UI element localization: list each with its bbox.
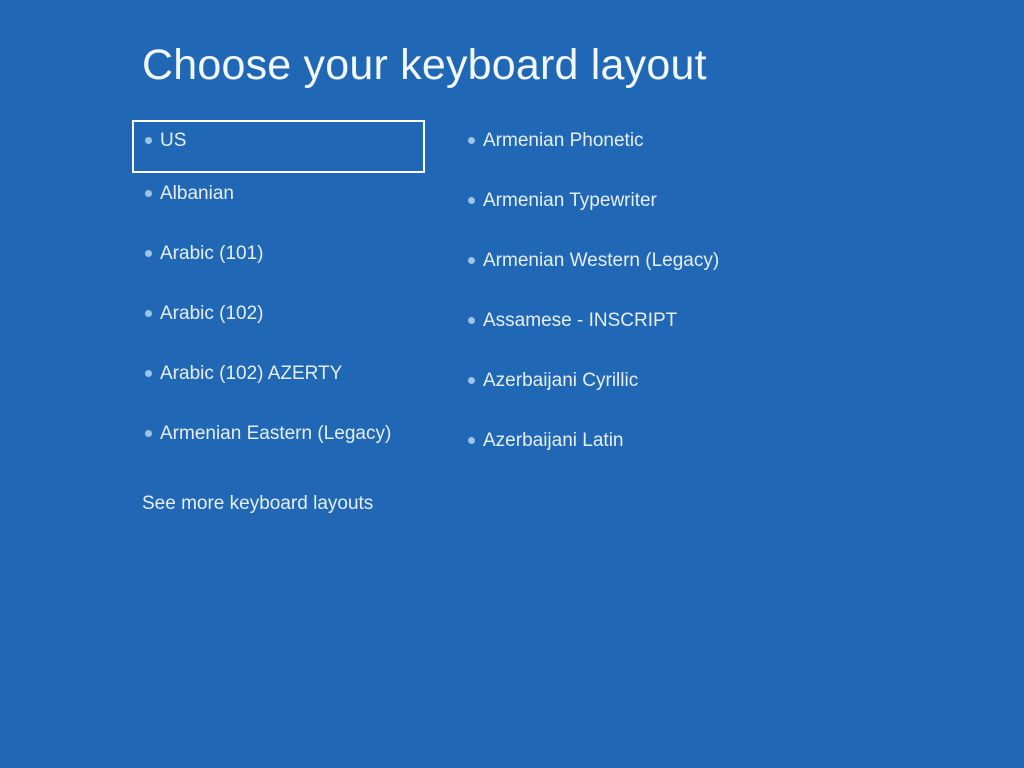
layout-option-label: Azerbaijani Latin <box>483 429 623 453</box>
layout-list-left-column: USAlbanianArabic (101)Arabic (102)Arabic… <box>132 120 432 473</box>
bullet-dot-icon <box>468 377 475 384</box>
layout-option-label: Assamese - INSCRIPT <box>483 309 677 333</box>
bullet-dot-icon <box>145 250 152 257</box>
keyboard-layout-screen: Choose your keyboard layout USAlbanianAr… <box>0 0 1024 768</box>
layout-option-arabic-101[interactable]: Arabic (101) <box>132 233 432 293</box>
layout-option-label: Azerbaijani Cyrillic <box>483 369 638 393</box>
layout-option-us[interactable]: US <box>132 120 425 173</box>
layout-option-label: Armenian Eastern (Legacy) <box>160 422 391 446</box>
layout-option-armenian-typewriter[interactable]: Armenian Typewriter <box>460 180 790 240</box>
bullet-dot-icon <box>468 437 475 444</box>
layout-option-armenian-western-legacy[interactable]: Armenian Western (Legacy) <box>460 240 790 300</box>
bullet-dot-icon <box>468 257 475 264</box>
layout-option-azerbaijani-cyrillic[interactable]: Azerbaijani Cyrillic <box>460 360 790 420</box>
bullet-dot-icon <box>145 190 152 197</box>
bullet-dot-icon <box>468 197 475 204</box>
bullet-dot-icon <box>145 310 152 317</box>
layout-option-label: Armenian Western (Legacy) <box>483 249 719 273</box>
bullet-dot-icon <box>468 317 475 324</box>
layout-option-label: Armenian Phonetic <box>483 129 644 153</box>
layout-list-right-column: Armenian PhoneticArmenian TypewriterArme… <box>460 120 790 480</box>
layout-option-label: Arabic (102) AZERTY <box>160 362 342 386</box>
layout-option-armenian-eastern-legacy[interactable]: Armenian Eastern (Legacy) <box>132 413 432 473</box>
bullet-dot-icon <box>145 137 152 144</box>
layout-option-arabic-102-azerty[interactable]: Arabic (102) AZERTY <box>132 353 432 413</box>
layout-option-label: Arabic (101) <box>160 242 264 266</box>
layout-option-azerbaijani-latin[interactable]: Azerbaijani Latin <box>460 420 790 480</box>
layout-option-label: Arabic (102) <box>160 302 264 326</box>
layout-option-assamese-inscript[interactable]: Assamese - INSCRIPT <box>460 300 790 360</box>
layout-option-label: Albanian <box>160 182 234 206</box>
layout-option-arabic-102[interactable]: Arabic (102) <box>132 293 432 353</box>
see-more-keyboard-layouts-link[interactable]: See more keyboard layouts <box>142 492 373 516</box>
layout-option-albanian[interactable]: Albanian <box>132 173 432 233</box>
layout-option-armenian-phonetic[interactable]: Armenian Phonetic <box>460 120 790 180</box>
bullet-dot-icon <box>145 430 152 437</box>
page-title: Choose your keyboard layout <box>142 38 707 92</box>
layout-option-label: Armenian Typewriter <box>483 189 657 213</box>
bullet-dot-icon <box>468 137 475 144</box>
bullet-dot-icon <box>145 370 152 377</box>
layout-option-label: US <box>160 129 186 153</box>
